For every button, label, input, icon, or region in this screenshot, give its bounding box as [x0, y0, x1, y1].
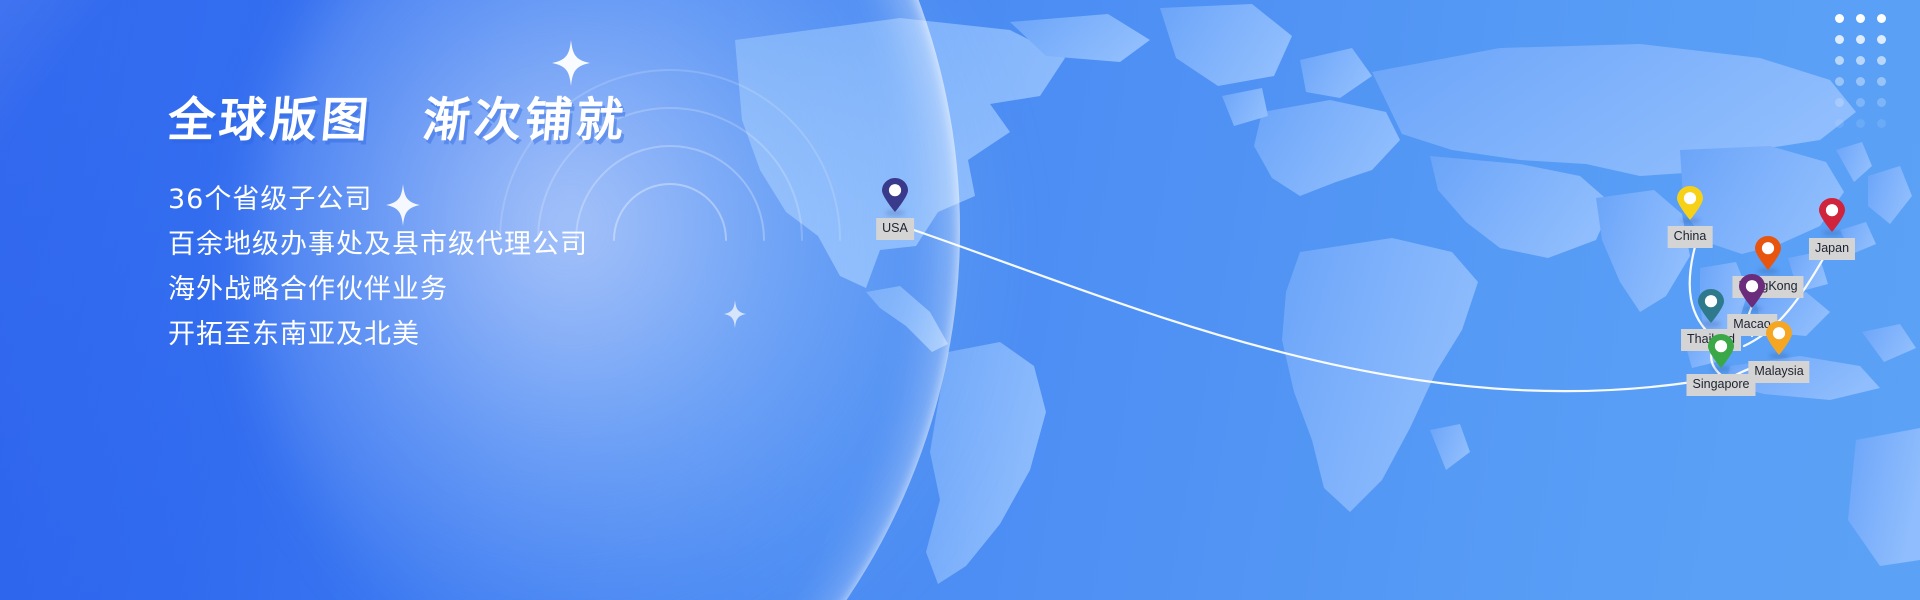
- subtitle-line-1: 36个省级子公司: [168, 177, 928, 222]
- map-pin-icon: [1819, 198, 1845, 232]
- map-marker-label: Singapore: [1687, 374, 1756, 396]
- map-pin-icon: [1755, 236, 1781, 270]
- subtitle-line-2: 百余地级办事处及县市级代理公司: [168, 222, 928, 267]
- subtitle-line-3: 海外战略合作伙伴业务: [168, 267, 928, 312]
- map-marker-label: Malaysia: [1748, 361, 1809, 383]
- map-pin-icon: [1766, 321, 1792, 355]
- page-title: 全球版图 渐次铺就: [166, 96, 930, 147]
- banner-copy: 全球版图 渐次铺就 36个省级子公司 百余地级办事处及县市级代理公司 海外战略合…: [168, 96, 928, 357]
- map-marker-label: USA: [876, 218, 914, 240]
- map-pin-icon: [882, 178, 908, 212]
- subtitle-list: 36个省级子公司 百余地级办事处及县市级代理公司 海外战略合作伙伴业务 开拓至东…: [168, 177, 928, 357]
- map-marker-label: Japan: [1809, 238, 1855, 260]
- subtitle-line-4: 开拓至东南亚及北美: [168, 312, 928, 357]
- map-pin-icon: [1698, 289, 1724, 323]
- map-marker-label: China: [1668, 226, 1713, 248]
- map-pin-icon: [1708, 334, 1734, 368]
- global-map-banner: 全球版图 渐次铺就 36个省级子公司 百余地级办事处及县市级代理公司 海外战略合…: [0, 0, 1920, 600]
- map-pin-icon: [1739, 274, 1765, 308]
- dot-grid-decoration: [1829, 8, 1892, 134]
- map-pin-icon: [1677, 186, 1703, 220]
